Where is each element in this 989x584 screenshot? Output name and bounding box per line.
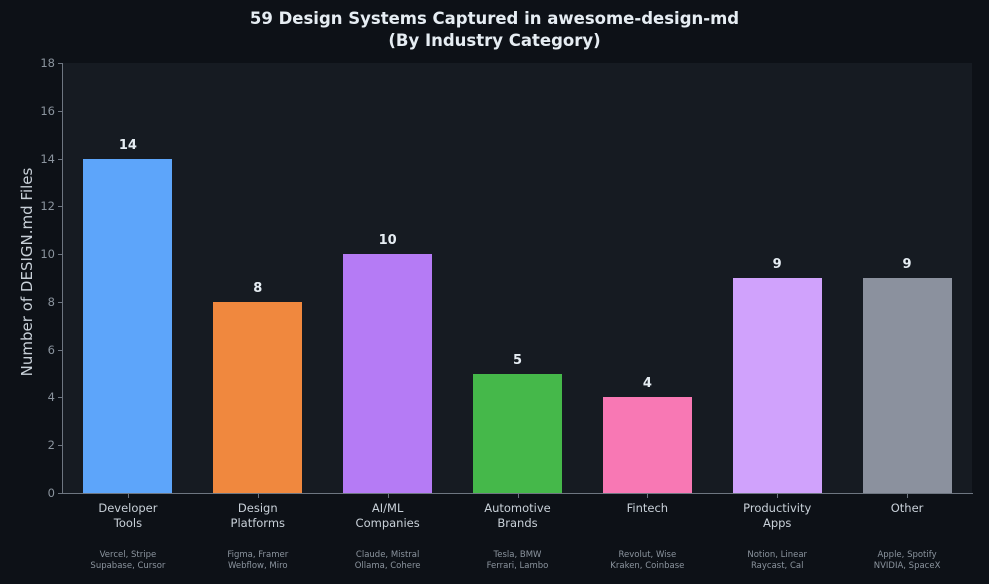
category-examples-annotation: Figma, FramerWebflow, Miro (195, 550, 321, 572)
annotation-line: Ferrari, Lambo (455, 561, 581, 572)
category-examples-annotation: Revolut, WiseKraken, Coinbase (584, 550, 710, 572)
category-examples-annotation: Vercel, StripeSupabase, Cursor (65, 550, 191, 572)
x-tick-label-other: Other (844, 501, 970, 516)
bar-other[interactable] (863, 278, 952, 493)
y-tick-mark (58, 350, 62, 351)
bar-value-label: 10 (325, 234, 451, 248)
x-tick-label-line: Developer (65, 501, 191, 516)
x-tick-label-productivity-apps: ProductivityApps (714, 501, 840, 531)
y-tick-mark (58, 254, 62, 255)
x-tick-label-line: Companies (325, 516, 451, 531)
chart-title-line-2: (By Industry Category) (0, 30, 989, 52)
x-tick-label-line: Design (195, 501, 321, 516)
y-tick-mark (58, 206, 62, 207)
x-tick-label-line: Apps (714, 516, 840, 531)
bar-ai-ml-companies[interactable] (343, 254, 432, 493)
x-tick-mark (258, 494, 259, 498)
annotation-line: Raycast, Cal (714, 561, 840, 572)
annotation-line: Revolut, Wise (584, 550, 710, 561)
annotation-line: Vercel, Stripe (65, 550, 191, 561)
y-tick-mark (58, 111, 62, 112)
y-tick-label: 4 (7, 391, 55, 403)
y-tick-label: 10 (7, 248, 55, 260)
bar-productivity-apps[interactable] (733, 278, 822, 493)
y-tick-mark (58, 445, 62, 446)
y-tick-label: 2 (7, 439, 55, 451)
bar-automotive-brands[interactable] (473, 374, 562, 493)
y-tick-label: 14 (7, 153, 55, 165)
y-axis-title: Number of DESIGN.md Files (18, 152, 36, 392)
bar-value-label: 9 (714, 258, 840, 272)
y-tick-label: 18 (7, 57, 55, 69)
x-tick-mark (128, 494, 129, 498)
y-tick-label: 12 (7, 200, 55, 212)
x-tick-label-line: AI/ML (325, 501, 451, 516)
bar-developer-tools[interactable] (83, 159, 172, 493)
annotation-line: Kraken, Coinbase (584, 561, 710, 572)
annotation-line: Ollama, Cohere (325, 561, 451, 572)
category-examples-annotation: Claude, MistralOllama, Cohere (325, 550, 451, 572)
x-tick-label-automotive-brands: AutomotiveBrands (455, 501, 581, 531)
x-tick-label-line: Other (844, 501, 970, 516)
y-tick-mark (58, 397, 62, 398)
x-tick-label-line: Automotive (455, 501, 581, 516)
chart-title: 59 Design Systems Captured in awesome-de… (0, 8, 989, 52)
bar-value-label: 8 (195, 282, 321, 296)
y-tick-label: 6 (7, 344, 55, 356)
x-tick-label-design-platforms: DesignPlatforms (195, 501, 321, 531)
annotation-line: Notion, Linear (714, 550, 840, 561)
x-tick-label-developer-tools: DeveloperTools (65, 501, 191, 531)
category-examples-annotation: Apple, SpotifyNVIDIA, SpaceX (844, 550, 970, 572)
annotation-line: NVIDIA, SpaceX (844, 561, 970, 572)
x-tick-label-line: Fintech (584, 501, 710, 516)
annotation-line: Claude, Mistral (325, 550, 451, 561)
x-tick-label-line: Tools (65, 516, 191, 531)
x-tick-label-line: Productivity (714, 501, 840, 516)
bar-chart-figure: 59 Design Systems Captured in awesome-de… (0, 0, 989, 584)
chart-title-line-1: 59 Design Systems Captured in awesome-de… (0, 8, 989, 30)
bar-value-label: 5 (455, 354, 581, 368)
bar-fintech[interactable] (603, 397, 692, 493)
category-examples-annotation: Notion, LinearRaycast, Cal (714, 550, 840, 572)
y-tick-mark (58, 63, 62, 64)
annotation-line: Webflow, Miro (195, 561, 321, 572)
y-tick-label: 0 (7, 487, 55, 499)
x-tick-mark (777, 494, 778, 498)
bar-value-label: 9 (844, 258, 970, 272)
annotation-line: Apple, Spotify (844, 550, 970, 561)
x-tick-label-fintech: Fintech (584, 501, 710, 516)
annotation-line: Tesla, BMW (455, 550, 581, 561)
y-tick-mark (58, 493, 62, 494)
y-axis-spine (62, 63, 63, 494)
x-tick-label-line: Brands (455, 516, 581, 531)
bar-value-label: 14 (65, 139, 191, 153)
x-tick-label-ai-ml-companies: AI/MLCompanies (325, 501, 451, 531)
bar-value-label: 4 (584, 377, 710, 391)
y-tick-label: 8 (7, 296, 55, 308)
y-tick-mark (58, 302, 62, 303)
bar-design-platforms[interactable] (213, 302, 302, 493)
y-tick-mark (58, 159, 62, 160)
y-tick-label: 16 (7, 105, 55, 117)
x-tick-label-line: Platforms (195, 516, 321, 531)
annotation-line: Supabase, Cursor (65, 561, 191, 572)
x-tick-mark (518, 494, 519, 498)
x-tick-mark (907, 494, 908, 498)
annotation-line: Figma, Framer (195, 550, 321, 561)
category-examples-annotation: Tesla, BMWFerrari, Lambo (455, 550, 581, 572)
x-tick-mark (388, 494, 389, 498)
x-tick-mark (647, 494, 648, 498)
